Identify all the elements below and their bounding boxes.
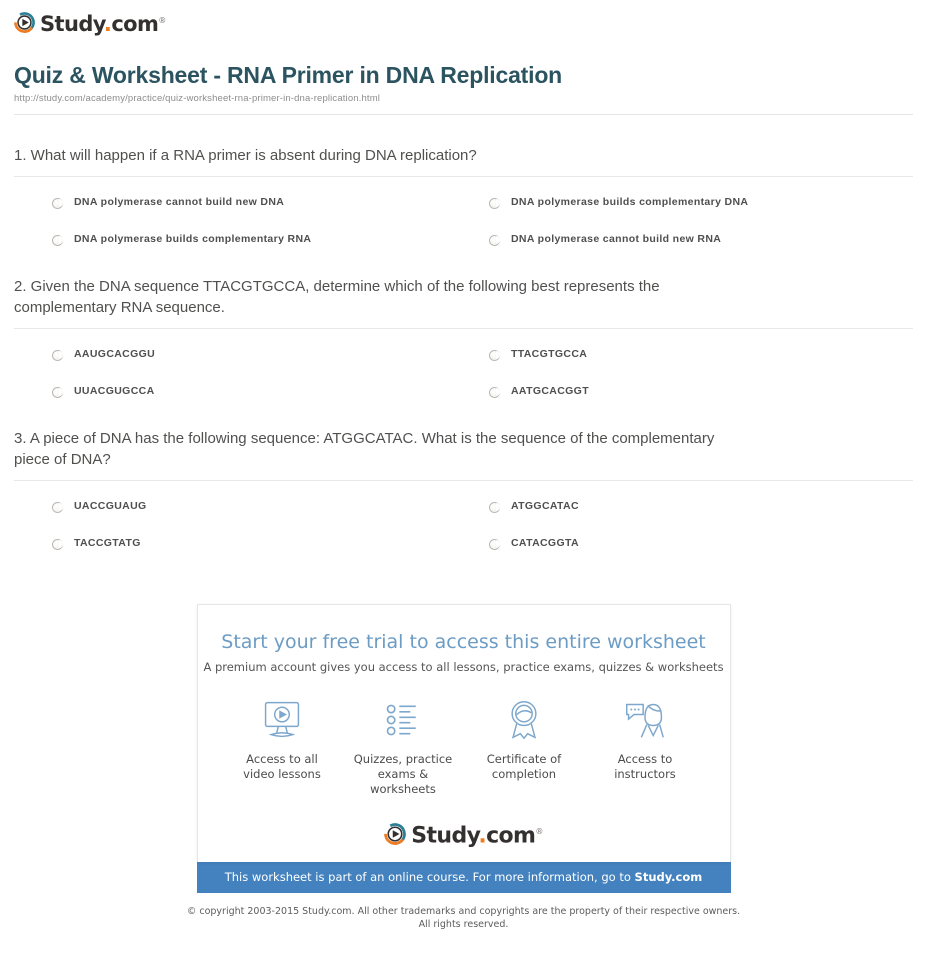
banner-text: This worksheet is part of an online cour…	[225, 870, 635, 884]
option-row[interactable]: AATGCACGGT	[489, 385, 913, 398]
monitor-play-icon	[223, 696, 341, 744]
feature-label-line1: Certificate of	[487, 752, 561, 766]
brand-trademark: ®	[158, 16, 165, 25]
brand-wordmark: Study.com®	[411, 821, 543, 846]
promo-study-com-logo[interactable]: Study.com®	[198, 797, 730, 862]
option-label: DNA polymerase cannot build new DNA	[74, 196, 284, 208]
feature-label-line1: Quizzes, practice	[354, 752, 453, 766]
title-block: Quiz & Worksheet - RNA Primer in DNA Rep…	[0, 40, 927, 104]
radio-button-icon[interactable]	[489, 387, 500, 398]
option-label: AAUGCACGGU	[74, 348, 155, 360]
course-banner[interactable]: This worksheet is part of an online cour…	[197, 862, 731, 893]
features-row: Access to all video lessons	[198, 674, 730, 797]
radio-button-icon[interactable]	[52, 198, 63, 209]
option-row[interactable]: UACCGUAUG	[52, 500, 489, 513]
instructor-chat-icon	[586, 696, 704, 744]
radio-button-icon[interactable]	[489, 235, 500, 246]
radio-button-icon[interactable]	[489, 539, 500, 550]
brand-word-main: Study	[411, 823, 478, 848]
question-block: 1. What will happen if a RNA primer is a…	[14, 145, 913, 246]
option-row[interactable]: DNA polymerase builds complementary RNA	[52, 233, 489, 246]
copyright-line2: All rights reserved.	[419, 919, 509, 930]
brand-word-dot: .	[478, 823, 486, 848]
option-row[interactable]: DNA polymerase builds complementary DNA	[489, 196, 913, 209]
study-com-logo[interactable]: Study.com®	[14, 10, 166, 35]
option-label: TTACGTGCCA	[511, 348, 587, 360]
feature-label-line2: completion	[492, 767, 556, 781]
option-row[interactable]: AAUGCACGGU	[52, 348, 489, 361]
radio-button-icon[interactable]	[52, 539, 63, 550]
promo-subheadline: A premium account gives you access to al…	[198, 653, 730, 674]
source-url: http://study.com/academy/practice/quiz-w…	[14, 93, 913, 104]
question-text: 1. What will happen if a RNA primer is a…	[14, 145, 729, 166]
option-label: UUACGUGCCA	[74, 385, 155, 397]
option-row[interactable]: DNA polymerase cannot build new DNA	[52, 196, 489, 209]
feature-label: Access to instructors	[586, 744, 704, 782]
question-block: 3. A piece of DNA has the following sequ…	[14, 428, 913, 550]
brand-word-tld: com	[486, 823, 535, 848]
feature-label-line2: video lessons	[243, 767, 321, 781]
radio-button-icon[interactable]	[52, 502, 63, 513]
option-label: CATACGGTA	[511, 537, 579, 549]
feature-label-line2: exams & worksheets	[370, 767, 436, 796]
radio-button-icon[interactable]	[489, 198, 500, 209]
header-divider	[14, 114, 913, 115]
feature-label-line1: Access to all	[246, 752, 318, 766]
feature-label: Quizzes, practice exams & worksheets	[344, 744, 462, 797]
option-row[interactable]: ATGGCATAC	[489, 500, 913, 513]
feature-label: Certificate of completion	[465, 744, 583, 782]
options-grid: UACCGUAUG ATGGCATAC TACCGTATG CATACGGTA	[14, 481, 913, 550]
checklist-icon	[344, 696, 462, 744]
option-label: AATGCACGGT	[511, 385, 589, 397]
promo-headline: Start your free trial to access this ent…	[198, 605, 730, 653]
banner-link[interactable]: Study.com	[635, 870, 703, 884]
feature-item: Access to instructors	[586, 696, 704, 797]
option-label: DNA polymerase cannot build new RNA	[511, 233, 721, 245]
worksheet-page: Study.com® Quiz & Worksheet - RNA Primer…	[0, 0, 927, 931]
radio-button-icon[interactable]	[52, 350, 63, 361]
feature-item: Access to all video lessons	[223, 696, 341, 797]
copyright-line1: © copyright 2003-2015 Study.com. All oth…	[187, 906, 740, 917]
question-block: 2. Given the DNA sequence TTACGTGCCA, de…	[14, 276, 913, 398]
option-label: ATGGCATAC	[511, 500, 579, 512]
header-brand-bar: Study.com®	[0, 0, 927, 40]
option-label: UACCGUAUG	[74, 500, 147, 512]
brand-word-tld: com	[111, 12, 158, 36]
option-label: DNA polymerase builds complementary RNA	[74, 233, 311, 245]
play-circle-icon	[384, 823, 406, 845]
option-row[interactable]: DNA polymerase cannot build new RNA	[489, 233, 913, 246]
page-title: Quiz & Worksheet - RNA Primer in DNA Rep…	[14, 62, 913, 89]
option-label: DNA polymerase builds complementary DNA	[511, 196, 748, 208]
feature-label-line2: instructors	[614, 767, 676, 781]
radio-button-icon[interactable]	[489, 350, 500, 361]
promo-section: Start your free trial to access this ent…	[0, 604, 927, 862]
radio-button-icon[interactable]	[489, 502, 500, 513]
feature-label: Access to all video lessons	[223, 744, 341, 782]
feature-label-line1: Access to	[618, 752, 673, 766]
award-ribbon-icon	[465, 696, 583, 744]
free-trial-card: Start your free trial to access this ent…	[197, 604, 731, 862]
brand-trademark: ®	[535, 827, 542, 836]
brand-word-main: Study	[40, 12, 104, 36]
option-row[interactable]: TTACGTGCCA	[489, 348, 913, 361]
radio-button-icon[interactable]	[52, 235, 63, 246]
questions-list: 1. What will happen if a RNA primer is a…	[0, 145, 927, 550]
option-row[interactable]: TACCGTATG	[52, 537, 489, 550]
options-grid: AAUGCACGGU TTACGTGCCA UUACGUGCCA AATGCAC…	[14, 329, 913, 398]
copyright-footer: © copyright 2003-2015 Study.com. All oth…	[0, 893, 927, 931]
brand-wordmark: Study.com®	[40, 10, 166, 35]
option-label: TACCGTATG	[74, 537, 141, 549]
feature-item: Quizzes, practice exams & worksheets	[344, 696, 462, 797]
question-text: 2. Given the DNA sequence TTACGTGCCA, de…	[14, 276, 729, 318]
radio-button-icon[interactable]	[52, 387, 63, 398]
play-circle-icon	[14, 12, 35, 33]
options-grid: DNA polymerase cannot build new DNA DNA …	[14, 177, 913, 246]
option-row[interactable]: UUACGUGCCA	[52, 385, 489, 398]
feature-item: Certificate of completion	[465, 696, 583, 797]
question-text: 3. A piece of DNA has the following sequ…	[14, 428, 729, 470]
option-row[interactable]: CATACGGTA	[489, 537, 913, 550]
